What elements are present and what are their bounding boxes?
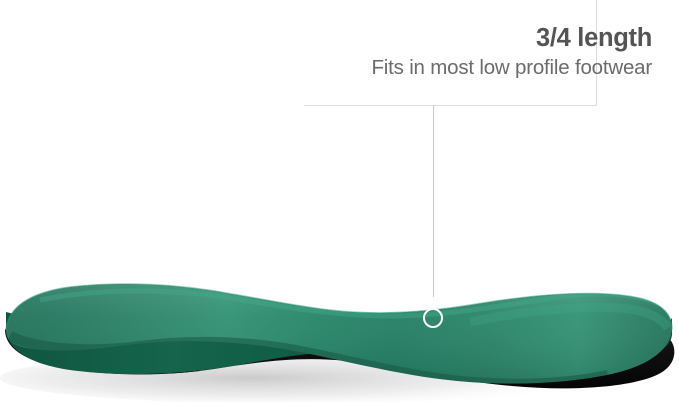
- callout-title: 3/4 length: [232, 24, 652, 52]
- callout-subtitle: Fits in most low profile footwear: [152, 56, 652, 80]
- product-callout-image: 3/4 length Fits in most low profile foot…: [0, 0, 679, 402]
- callout-box: [304, 0, 597, 106]
- leader-line: [433, 105, 434, 309]
- target-circle-icon: [423, 308, 443, 328]
